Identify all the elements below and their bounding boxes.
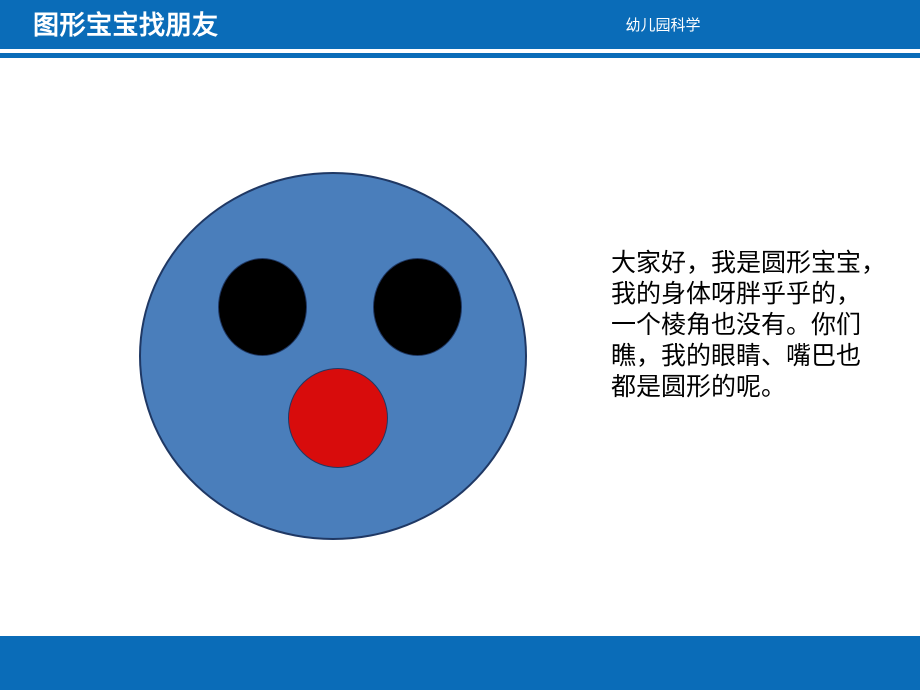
speech-line: 大家好，我是圆形宝宝，	[611, 248, 899, 279]
header-accent-rule	[0, 53, 920, 58]
header-subtitle: 幼儿园科学	[563, 16, 763, 35]
circle-body-shape	[139, 172, 527, 540]
right-eye-shape	[373, 258, 462, 356]
page-title: 图形宝宝找朋友	[33, 10, 219, 40]
speech-line: 都是圆形的呢。	[611, 372, 899, 403]
speech-line: 一个棱角也没有。你们	[611, 310, 899, 341]
mouth-shape	[288, 368, 388, 468]
circle-character-figure	[139, 172, 527, 540]
speech-text-block: 大家好，我是圆形宝宝， 我的身体呀胖乎乎的， 一个棱角也没有。你们 瞧，我的眼睛…	[611, 248, 899, 403]
speech-line: 我的身体呀胖乎乎的，	[611, 279, 899, 310]
slide-canvas: 图形宝宝找朋友 幼儿园科学 大家好，我是圆形宝宝， 我的身体呀胖乎乎的， 一个棱…	[0, 0, 920, 690]
footer-bar	[0, 636, 920, 690]
left-eye-shape	[218, 258, 307, 356]
speech-line: 瞧，我的眼睛、嘴巴也	[611, 341, 899, 372]
